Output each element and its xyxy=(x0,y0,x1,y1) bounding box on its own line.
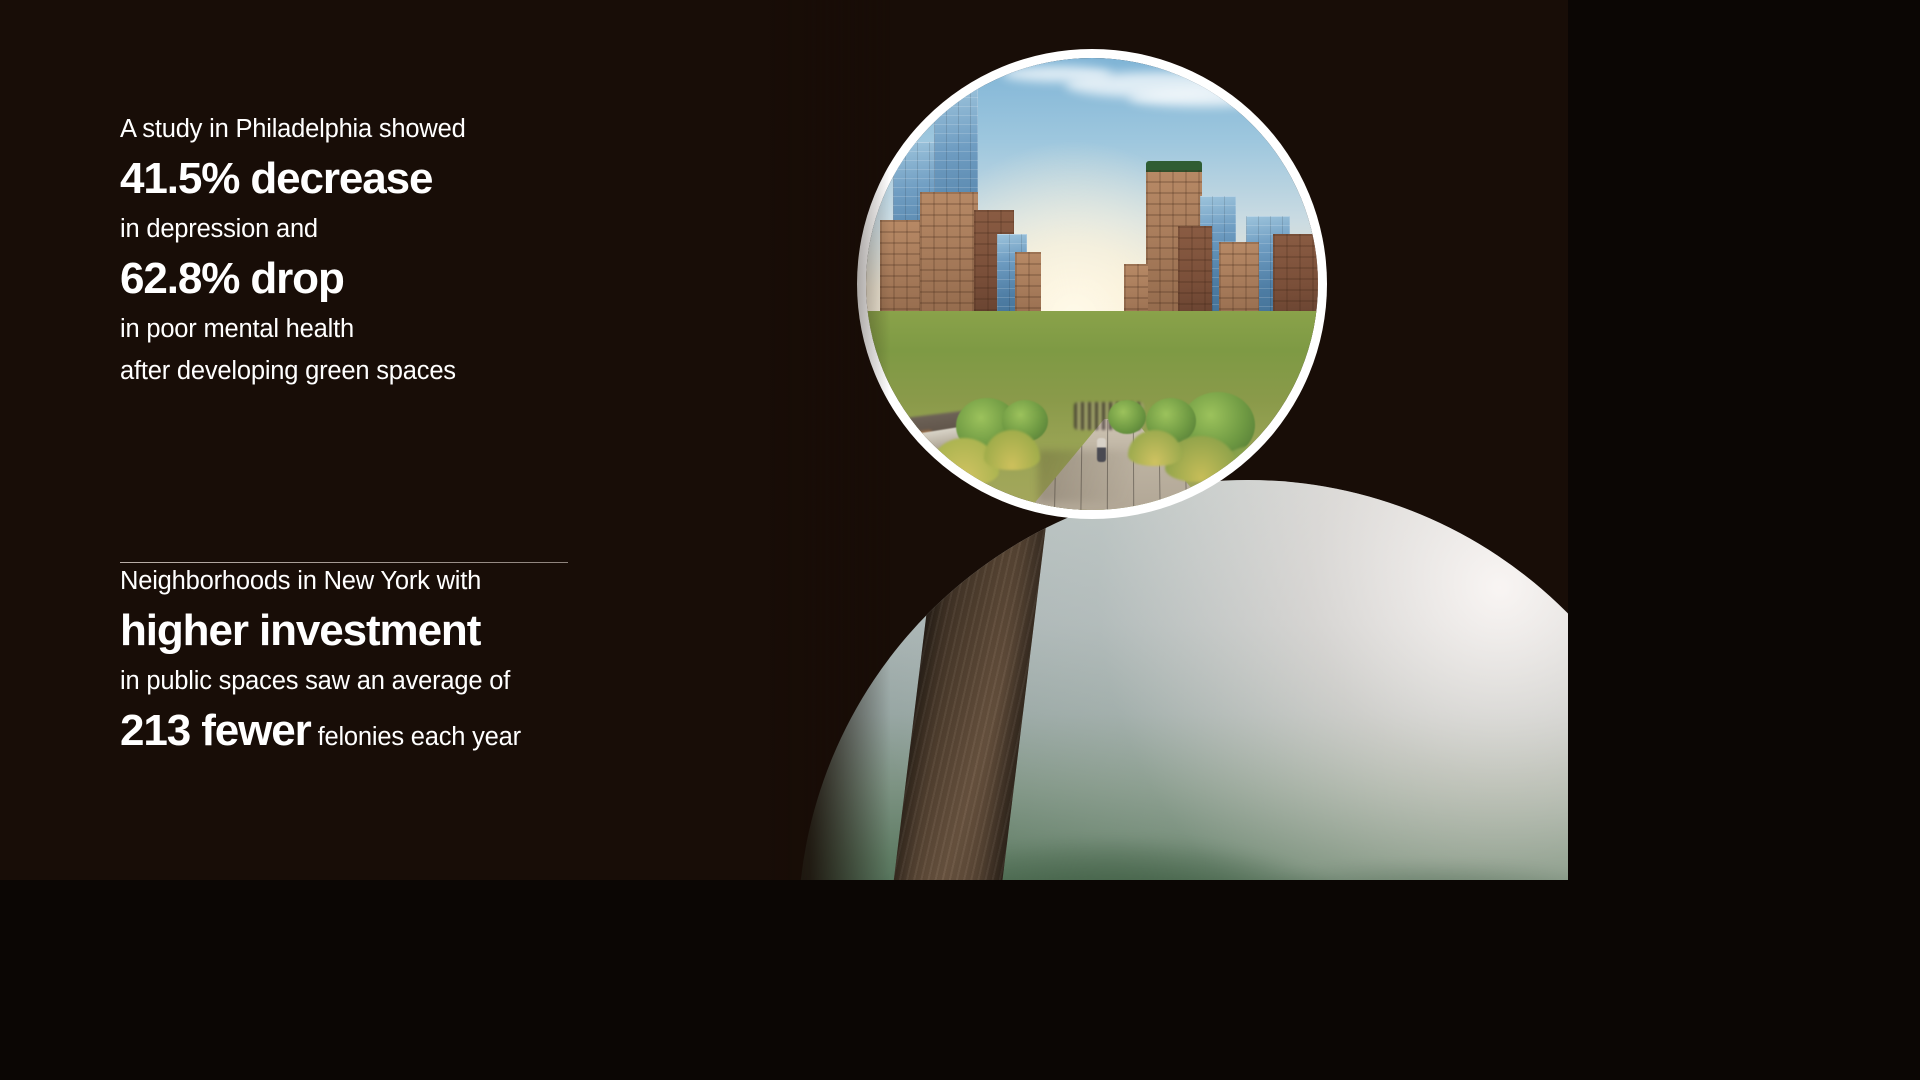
stat-block-new-york: Neighborhoods in New York with higher in… xyxy=(120,560,760,766)
ornamental-grass xyxy=(875,446,961,502)
landscape-backdrop xyxy=(798,480,1568,880)
car xyxy=(892,439,915,451)
stat-headline-investment: higher investment xyxy=(120,602,760,660)
cloud xyxy=(1065,72,1255,98)
walkway xyxy=(1029,419,1210,510)
stat-subline-mental-health: in poor mental health xyxy=(120,308,760,350)
left-vignette xyxy=(760,0,890,880)
brick-building xyxy=(974,210,1014,338)
stat-subline-public-spaces: in public spaces saw an average of xyxy=(120,660,760,702)
stat-block-philadelphia: A study in Philadelphia showed 41.5% dec… xyxy=(120,108,760,392)
green-roof xyxy=(1146,161,1202,172)
stat-lead-in: A study in Philadelphia showed xyxy=(120,108,760,150)
street-parking-lot xyxy=(866,406,1001,454)
tree xyxy=(1181,392,1255,458)
stat-subline-depression: in depression and xyxy=(120,208,760,250)
stat-lead-in-ny: Neighborhoods in New York with xyxy=(120,560,760,602)
glass-tower xyxy=(997,234,1027,338)
sky xyxy=(866,58,1318,338)
glass-tower xyxy=(1246,216,1290,338)
car xyxy=(910,430,933,442)
glass-tower xyxy=(893,142,945,338)
meditation-in-nature-photo xyxy=(798,480,1568,880)
tree xyxy=(956,398,1018,454)
brick-building xyxy=(1124,264,1148,338)
brick-building xyxy=(880,220,926,338)
city-scene xyxy=(866,58,1318,510)
ornamental-grass xyxy=(1165,436,1237,482)
ornamental-grass xyxy=(1128,430,1182,466)
car xyxy=(943,430,966,442)
glass-tower xyxy=(1200,196,1236,338)
car xyxy=(877,428,900,440)
tree xyxy=(1146,398,1196,444)
forest-ridge-left xyxy=(798,840,1464,880)
city-green-corridor-photo xyxy=(866,58,1318,510)
pedestrian-crowd xyxy=(1074,402,1144,430)
slide-canvas: A study in Philadelphia showed 41.5% dec… xyxy=(0,0,1568,880)
park-planting-beds xyxy=(866,311,1318,510)
brick-building xyxy=(1015,252,1041,338)
brick-building xyxy=(1219,242,1259,338)
cloud xyxy=(1002,66,1112,82)
brick-building xyxy=(1178,226,1212,338)
tree-trunk xyxy=(831,480,1053,880)
brick-tower-green-roof xyxy=(1146,170,1202,338)
ornamental-grass xyxy=(984,430,1040,470)
tree xyxy=(1108,400,1146,434)
stat-felonies-tail: felonies each year xyxy=(311,723,521,751)
walkway-shadow xyxy=(1038,450,1174,502)
brick-building xyxy=(1273,234,1318,338)
pedestrian xyxy=(1097,438,1106,462)
statistics-column: A study in Philadelphia showed 41.5% dec… xyxy=(120,0,760,880)
elevated-rail-edge xyxy=(866,419,1018,463)
stat-headline-drop: 62.8% drop xyxy=(120,250,760,308)
brick-building xyxy=(920,192,978,338)
cloud xyxy=(1128,89,1278,107)
stat-headline-felonies: 213 fewer felonies each year xyxy=(120,702,760,766)
forest-ridge-right xyxy=(1194,867,1568,880)
section-divider xyxy=(120,562,568,563)
glass-tower xyxy=(934,88,978,338)
stat-headline-decrease: 41.5% decrease xyxy=(120,150,760,208)
stat-subline-green-spaces: after developing green spaces xyxy=(120,350,760,392)
stat-felonies-number: 213 fewer xyxy=(120,706,311,755)
ornamental-grass xyxy=(1208,446,1300,504)
ornamental-grass xyxy=(929,438,999,486)
tree xyxy=(1002,400,1048,442)
